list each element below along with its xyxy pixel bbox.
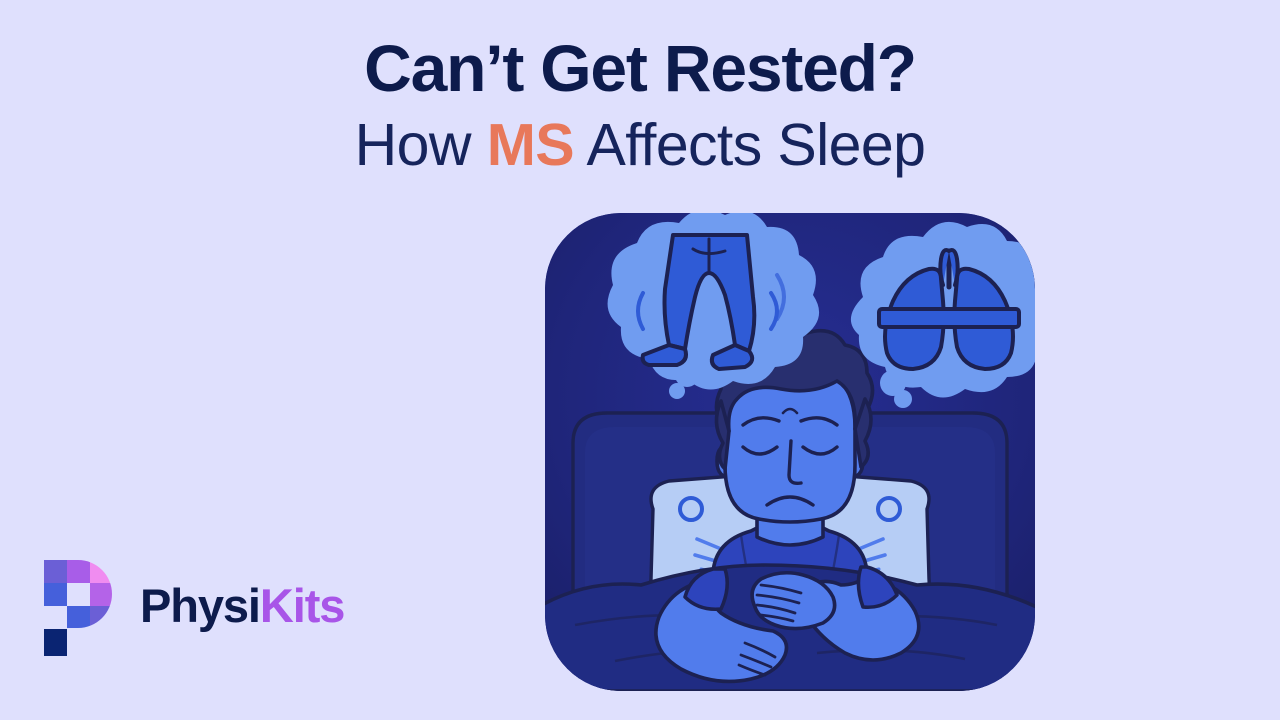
tile-low-middle: [67, 606, 90, 629]
tile-mid-left: [44, 583, 67, 606]
tile-mid-center: [67, 583, 90, 606]
subtitle-accent-ms: MS: [487, 112, 574, 178]
tile-top-left: [44, 560, 67, 583]
tile-top-middle: [67, 560, 90, 583]
physikits-logo-mark: [40, 556, 126, 660]
tile-low-left: [44, 606, 67, 629]
physikits-logo[interactable]: PhysiKits: [40, 556, 344, 660]
tile-stem-bottom: [44, 629, 67, 656]
headline-block: Can’t Get Rested? How MS Affects Sleep: [0, 34, 1280, 178]
poster-canvas: Can’t Get Rested? How MS Affects Sleep: [0, 0, 1280, 720]
tile-top-right: [90, 560, 113, 583]
physikits-wordmark: PhysiKits: [140, 582, 344, 635]
logo-p-glyph: [40, 556, 126, 660]
sleep-illustration: [545, 213, 1035, 691]
tile-mid-right: [90, 583, 113, 606]
subtitle-text-after: Affects Sleep: [574, 112, 925, 178]
wordmark-kits: Kits: [260, 579, 344, 632]
illustration-panel: [545, 213, 1035, 691]
subtitle-text-before: How: [355, 112, 487, 178]
page-title: Can’t Get Rested?: [0, 34, 1280, 104]
wordmark-physi: Physi: [140, 579, 260, 632]
tile-low-right: [90, 606, 113, 629]
logo-tile-grid: [44, 560, 113, 629]
page-subtitle: How MS Affects Sleep: [0, 112, 1280, 178]
